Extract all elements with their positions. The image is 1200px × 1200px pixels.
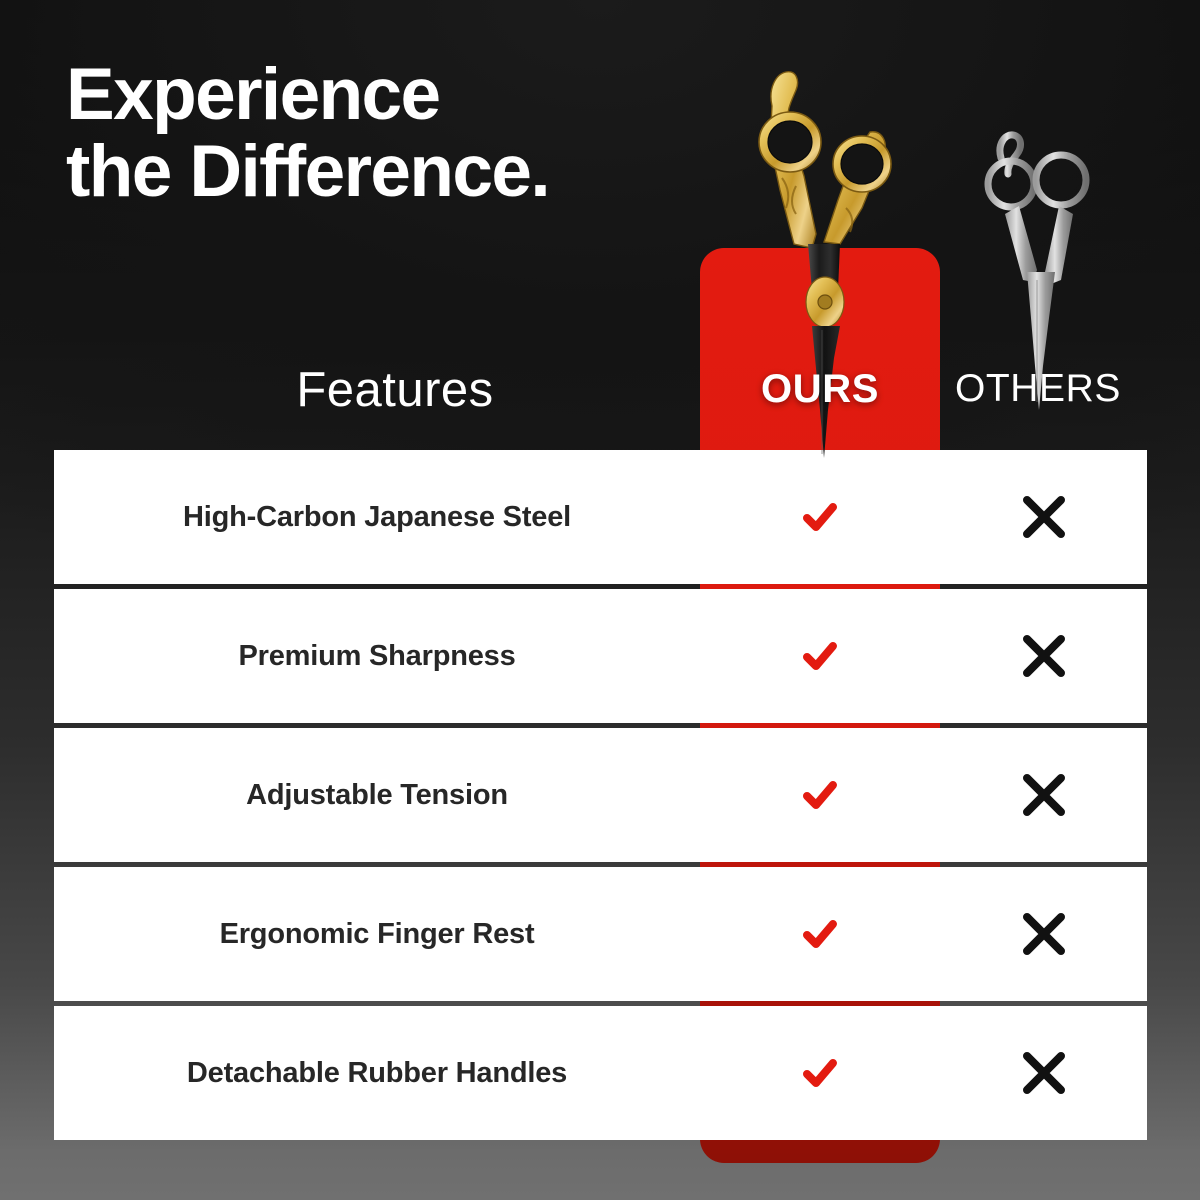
others-cell bbox=[940, 489, 1147, 545]
ours-cell bbox=[700, 899, 940, 969]
others-cell bbox=[940, 906, 1147, 962]
others-cell bbox=[940, 767, 1147, 823]
check-icon bbox=[785, 760, 855, 830]
cross-icon bbox=[1016, 489, 1072, 545]
feature-label: Adjustable Tension bbox=[54, 779, 700, 812]
feature-label: Ergonomic Finger Rest bbox=[54, 918, 700, 951]
check-icon bbox=[785, 1038, 855, 1108]
cross-icon bbox=[1016, 1045, 1072, 1101]
comparison-table: High-Carbon Japanese SteelPremium Sharpn… bbox=[54, 450, 1147, 1140]
check-icon bbox=[785, 899, 855, 969]
column-header-features: Features bbox=[215, 362, 575, 418]
cross-icon bbox=[1016, 628, 1072, 684]
others-cell bbox=[940, 1045, 1147, 1101]
ours-cell bbox=[700, 760, 940, 830]
check-icon bbox=[785, 621, 855, 691]
page-title: Experience the Difference. bbox=[66, 56, 549, 211]
cross-icon bbox=[1016, 906, 1072, 962]
ours-cell bbox=[700, 621, 940, 691]
table-row: Adjustable Tension bbox=[54, 728, 1147, 862]
others-cell bbox=[940, 628, 1147, 684]
table-row: High-Carbon Japanese Steel bbox=[54, 450, 1147, 584]
feature-label: Premium Sharpness bbox=[54, 640, 700, 673]
feature-label: High-Carbon Japanese Steel bbox=[54, 501, 700, 534]
table-row: Ergonomic Finger Rest bbox=[54, 867, 1147, 1001]
table-row: Premium Sharpness bbox=[54, 589, 1147, 723]
feature-label: Detachable Rubber Handles bbox=[54, 1057, 700, 1090]
ours-cell bbox=[700, 1038, 940, 1108]
table-row: Detachable Rubber Handles bbox=[54, 1006, 1147, 1140]
column-header-ours: OURS bbox=[700, 367, 940, 412]
check-icon bbox=[785, 482, 855, 552]
ours-cell bbox=[700, 482, 940, 552]
column-header-others: OTHERS bbox=[940, 367, 1136, 411]
cross-icon bbox=[1016, 767, 1072, 823]
comparison-infographic: Experience the Difference. bbox=[0, 0, 1200, 1200]
